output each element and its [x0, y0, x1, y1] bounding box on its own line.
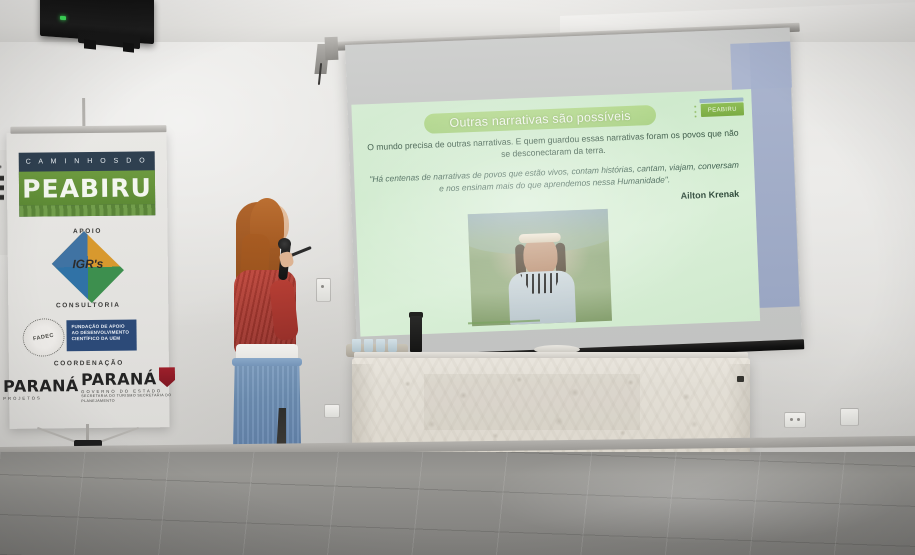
cup-4 — [388, 339, 397, 352]
banner-logo-kicker: C A M I N H O S D O — [19, 151, 155, 171]
wall-scuff — [737, 376, 744, 382]
floor-reflection — [360, 455, 915, 555]
presentation-slide: Outras narrativas são possíveis PEABIRU … — [351, 89, 760, 337]
banner-label-coordenacao: COORDENAÇÃO — [9, 359, 169, 368]
banner-top-rail — [10, 125, 166, 134]
wall-switch-left[interactable] — [316, 278, 331, 302]
cup-2 — [364, 339, 373, 352]
parana-projetos-word: PARANÁ — [3, 376, 89, 396]
slide-title-band: Outras narrativas são possíveis — [424, 105, 657, 134]
rail-end-bracket — [325, 37, 339, 61]
slide-title: Outras narrativas são possíveis — [449, 109, 631, 130]
monitor-foot-left — [84, 39, 96, 49]
power-led-icon — [60, 16, 66, 20]
pen-in-hand — [290, 246, 312, 257]
banner-label-consultoria: CONSULTORIA — [8, 301, 168, 310]
slide-author: Ailton Krenak — [680, 189, 739, 201]
projection-screen-assembly: Outras narrativas são possíveis PEABIRU … — [345, 28, 802, 360]
cup-1 — [352, 339, 361, 352]
peabiru-footprint-icon — [692, 103, 700, 118]
parana-governo-sub2: SECRETARIA DO TURISMO SECRETARIA DO PLAN… — [81, 393, 173, 404]
thermos — [410, 316, 422, 352]
presentation-room-photo: Outras narrativas são possíveis PEABIRU … — [0, 0, 915, 555]
peabiru-rollup-banner: C A M I N H O S D O PEABIRU APOIO IGR's … — [6, 131, 169, 429]
parana-projetos-sub: PROJETOS — [3, 395, 89, 401]
photo-person — [504, 226, 578, 325]
fadec-description-box: FUNDAÇÃO DE APOIO AO DESENVOLVIMENTO CIE… — [66, 319, 136, 351]
banner-peabiru-logo: C A M I N H O S D O PEABIRU — [19, 151, 156, 216]
peabiru-logo-icon: PEABIRU — [692, 100, 745, 119]
banner-logo-pattern — [19, 204, 155, 216]
wall-outlet-left[interactable] — [324, 404, 340, 418]
wall-outlet-right[interactable] — [784, 412, 806, 428]
banner-logo-word: PEABIRU — [22, 173, 152, 203]
slide-body-text: O mundo precisa de outras narrativas. E … — [367, 128, 740, 166]
secondary-banner-marks — [0, 162, 4, 222]
monitor-foot-right — [123, 42, 134, 52]
wall-switch-right[interactable] — [840, 408, 859, 426]
banner-logo-green-block: PEABIRU — [19, 170, 155, 205]
microphone-head-icon — [278, 238, 291, 250]
peabiru-logo-word: PEABIRU — [701, 102, 744, 117]
parana-governo-logo: PARANÁ GOVERNO DO ESTADO SECRETARIA DO T… — [81, 369, 173, 404]
fadec-seal-icon: FADEC — [19, 315, 67, 360]
slide-photo — [468, 209, 612, 326]
photo-headband — [519, 233, 561, 244]
skirt-waistband — [232, 358, 302, 366]
igr-logo-text: IGR's — [60, 257, 116, 272]
parana-projetos-logo: PARANÁ PROJETOS — [3, 376, 89, 401]
cup-3 — [376, 339, 385, 352]
